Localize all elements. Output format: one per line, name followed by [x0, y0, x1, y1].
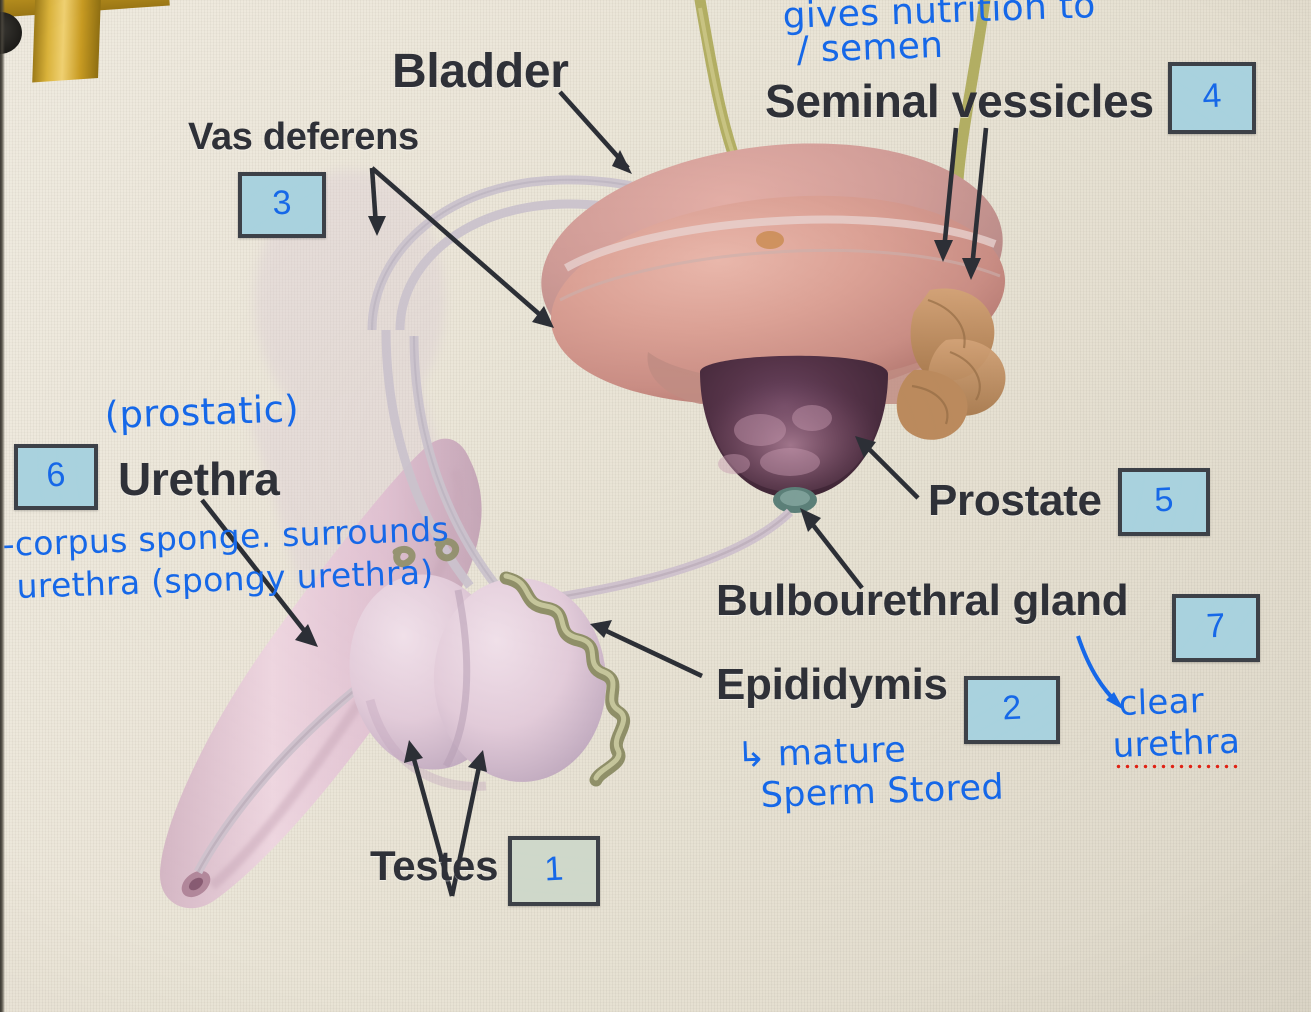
label-epididymis: Epididymis	[716, 660, 948, 710]
label-bladder: Bladder	[392, 44, 569, 99]
answer-box-vas-deferens-value: 3	[241, 174, 324, 236]
answer-box-bulbourethral-gland-value: 7	[1174, 596, 1257, 660]
label-prostate: Prostate	[928, 476, 1102, 526]
label-seminal-vessicles: Seminal vessicles	[765, 74, 1154, 128]
gold-clip-stem	[32, 0, 102, 83]
annotation-urethra-prostatic: (prostatic)	[104, 387, 300, 437]
worksheet-photo: Bladder Vas deferens Seminal vessicles U…	[0, 0, 1311, 1012]
answer-box-epididymis-value: 2	[966, 678, 1057, 743]
answer-box-urethra[interactable]: 6	[14, 444, 98, 510]
label-bulbourethral-gland: Bulbourethral gland	[716, 576, 1128, 626]
answer-box-seminal-vessicles-value: 4	[1170, 64, 1253, 132]
handwritten-arrow-bulbourethral	[1078, 636, 1124, 710]
annotation-epididymis-note-line2: Sperm Stored	[760, 768, 1005, 818]
screen-left-edge	[0, 0, 5, 1012]
answer-box-prostate[interactable]: 5	[1118, 468, 1210, 536]
red-dotted-underline	[1114, 764, 1238, 769]
answer-box-seminal-vessicles[interactable]: 4	[1168, 62, 1256, 134]
annotation-bulbourethral-note-line2: urethra	[1112, 722, 1241, 767]
gold-clip-object	[0, 0, 172, 79]
answer-box-epididymis[interactable]: 2	[964, 676, 1060, 744]
label-testes: Testes	[370, 842, 498, 890]
label-vas-deferens: Vas deferens	[188, 116, 419, 159]
answer-box-urethra-value: 6	[17, 446, 96, 508]
annotation-epididymis-note-line1: ↳ mature	[736, 730, 907, 777]
annotation-seminal-nutrition-line2: / semen	[796, 25, 944, 73]
prostate-organ	[700, 356, 888, 513]
answer-box-prostate-value: 5	[1120, 470, 1207, 534]
answer-box-vas-deferens[interactable]: 3	[238, 172, 326, 238]
answer-box-testes-value: 1	[510, 838, 597, 904]
label-urethra: Urethra	[118, 452, 280, 506]
answer-box-testes[interactable]: 1	[508, 836, 600, 906]
answer-box-bulbourethral-gland[interactable]: 7	[1172, 594, 1260, 662]
annotation-bulbourethral-note-line1: clear	[1118, 681, 1205, 724]
